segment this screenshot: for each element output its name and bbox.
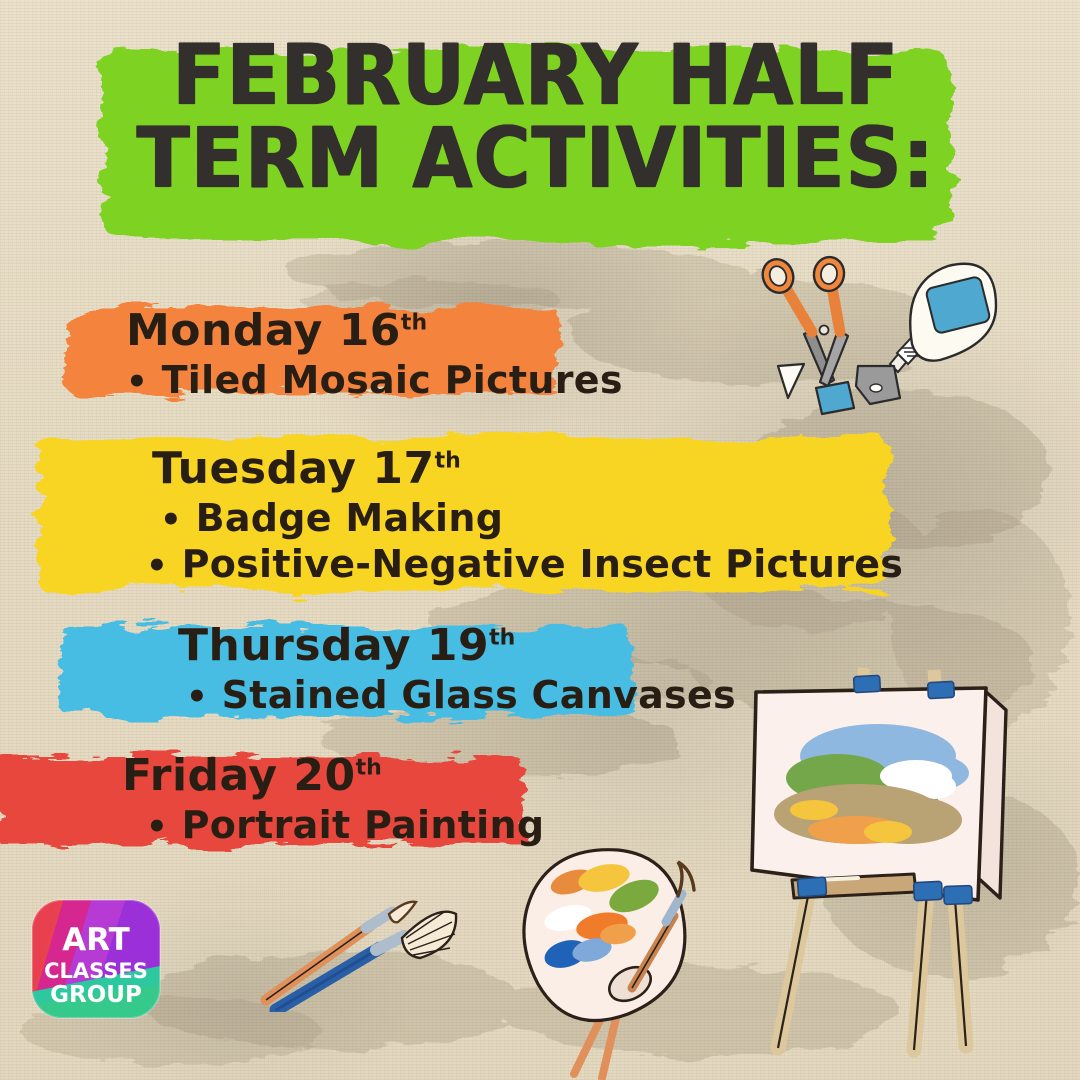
schedule-entry-monday: Monday 16th • Tiled Mosaic Pictures bbox=[126, 305, 623, 402]
day-name-monday: Monday bbox=[126, 305, 323, 356]
brand-logo[interactable]: ART CLASSES GROUP bbox=[30, 898, 162, 1020]
craft-supplies-illustration bbox=[752, 252, 1002, 432]
day-date-monday: 16 bbox=[339, 305, 401, 356]
palette-brush-handles bbox=[574, 1016, 616, 1078]
bullet-icon: • bbox=[160, 500, 182, 540]
easel-canvas bbox=[752, 688, 1006, 900]
page-title: FEBRUARY HALF TERM ACTIVITIES: bbox=[131, 34, 941, 200]
schedule-entry-friday: Friday 20th • Portrait Painting bbox=[122, 750, 544, 847]
day-ordinal-monday: th bbox=[401, 310, 427, 335]
bullet-icon: • bbox=[126, 362, 148, 402]
title-line-1: FEBRUARY HALF bbox=[131, 34, 941, 117]
day-ordinal-tuesday: th bbox=[435, 448, 461, 473]
day-name-thursday: Thursday bbox=[178, 620, 411, 671]
day-heading-monday: Monday 16th bbox=[126, 305, 623, 356]
day-date-tuesday: 17 bbox=[372, 443, 434, 494]
logo-line-2: CLASSES bbox=[44, 959, 148, 983]
easel-illustration bbox=[738, 648, 1058, 1058]
bullet-icon: • bbox=[146, 807, 168, 847]
logo-line-3: GROUP bbox=[50, 982, 142, 1008]
paint-palette-illustration bbox=[506, 838, 726, 1080]
activity-row: • Positive-Negative Insect Pictures bbox=[146, 542, 903, 586]
title-line-2: TERM ACTIVITIES: bbox=[131, 117, 941, 200]
paint-brushes-illustration bbox=[258, 892, 478, 1012]
day-name-tuesday: Tuesday bbox=[152, 443, 357, 494]
paper-shapes-icon bbox=[778, 364, 900, 414]
day-heading-friday: Friday 20th bbox=[122, 750, 544, 801]
activity-label: Positive-Negative Insect Pictures bbox=[182, 542, 904, 586]
day-ordinal-friday: th bbox=[356, 755, 382, 780]
schedule-entry-tuesday: Tuesday 17th • Badge Making • Positive-N… bbox=[152, 443, 903, 586]
poster-canvas: FEBRUARY HALF TERM ACTIVITIES: bbox=[0, 0, 1080, 1080]
day-heading-thursday: Thursday 19th bbox=[178, 620, 736, 671]
schedule-entry-thursday: Thursday 19th • Stained Glass Canvases bbox=[178, 620, 736, 717]
activity-label: Tiled Mosaic Pictures bbox=[162, 358, 623, 402]
activity-row: • Portrait Painting bbox=[146, 803, 544, 847]
activity-row: • Badge Making bbox=[160, 496, 903, 540]
day-date-thursday: 19 bbox=[427, 620, 489, 671]
activity-row: • Stained Glass Canvases bbox=[186, 673, 736, 717]
activity-label: Portrait Painting bbox=[182, 803, 545, 847]
activity-label: Badge Making bbox=[196, 496, 504, 540]
glue-bottle-icon bbox=[890, 264, 996, 372]
activity-row: • Tiled Mosaic Pictures bbox=[126, 358, 623, 402]
logo-line-1: ART bbox=[62, 922, 130, 958]
brush-orange bbox=[266, 902, 416, 1000]
day-name-friday: Friday bbox=[122, 750, 278, 801]
bullet-icon: • bbox=[186, 677, 208, 717]
day-date-friday: 20 bbox=[293, 750, 355, 801]
day-heading-tuesday: Tuesday 17th bbox=[152, 443, 903, 494]
activity-label: Stained Glass Canvases bbox=[222, 673, 736, 717]
bullet-icon: • bbox=[146, 546, 168, 586]
day-ordinal-thursday: th bbox=[489, 625, 515, 650]
